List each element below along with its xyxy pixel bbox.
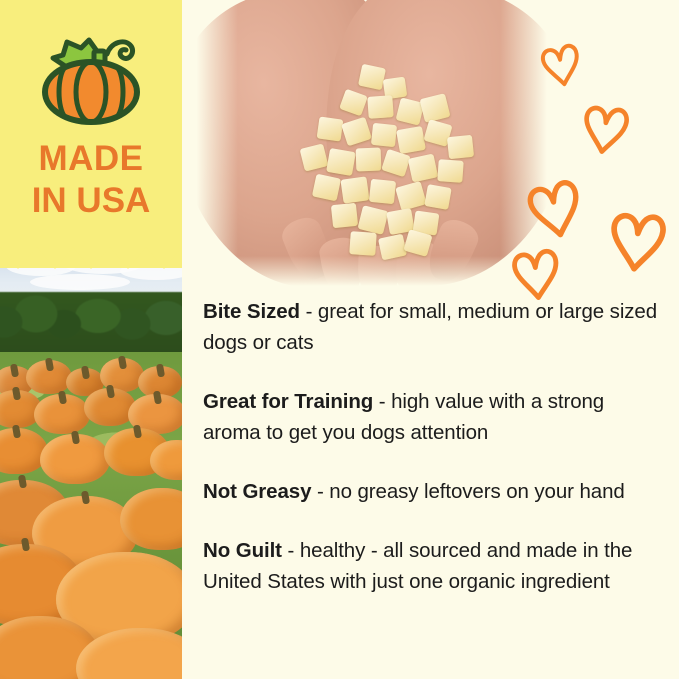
feature-bite-sized: Bite Sized - great for small, medium or … — [203, 296, 659, 358]
cloud — [30, 274, 130, 290]
left-column: MADE IN USA — [0, 0, 182, 679]
treat-cube — [424, 184, 451, 210]
treat-cube — [367, 95, 393, 119]
column-gutter — [182, 0, 192, 679]
photo-fade-bottom — [192, 256, 552, 290]
treat-cube — [396, 126, 426, 154]
treat-cube — [326, 148, 356, 176]
pumpkin-icon — [0, 24, 182, 131]
made-in-usa-badge: MADE IN USA — [0, 0, 182, 268]
treat-cube — [331, 203, 358, 228]
heart-2-icon — [575, 99, 636, 160]
feature-not-greasy-description: - no greasy leftovers on your hand — [311, 480, 624, 503]
heart-1-icon — [534, 38, 587, 91]
treat-cube — [369, 179, 396, 204]
product-feature-infographic: MADE IN USA — [0, 0, 679, 679]
feature-great-for-training-title: Great for Training — [203, 390, 373, 413]
treat-cube — [312, 174, 341, 202]
feature-no-guilt-title: No Guilt — [203, 539, 282, 562]
pumpkin — [40, 434, 110, 484]
feature-list: Bite Sized - great for small, medium or … — [203, 296, 659, 597]
treat-cube — [371, 123, 397, 147]
treat-cube — [349, 231, 377, 256]
hands-holding-treats-photo — [192, 0, 552, 290]
heart-4-icon — [601, 205, 674, 278]
feature-great-for-training: Great for Training - high value with a s… — [203, 386, 659, 448]
treat-cube — [447, 135, 474, 159]
zigzag-divider — [0, 243, 182, 269]
badge-line-1: MADE — [0, 138, 182, 180]
photo-fade-left — [192, 0, 238, 290]
badge-line-2: IN USA — [0, 180, 182, 222]
treat-cube — [358, 64, 386, 91]
pumpkin-patch-photo — [0, 248, 182, 679]
feature-bite-sized-title: Bite Sized — [203, 300, 300, 323]
feature-not-greasy: Not Greasy - no greasy leftovers on your… — [203, 476, 659, 507]
pumpkin — [34, 394, 90, 434]
treat-cube — [356, 148, 382, 172]
feature-not-greasy-title: Not Greasy — [203, 480, 311, 503]
feature-no-guilt: No Guilt - healthy - all sourced and mad… — [203, 535, 659, 597]
pumpkin — [26, 360, 72, 394]
treat-cube — [340, 176, 369, 203]
heart-3-icon — [518, 172, 592, 246]
decorative-hearts-group — [500, 18, 679, 293]
treat-cube — [437, 159, 463, 183]
treat-cube — [317, 116, 344, 141]
made-in-usa-text: MADE IN USA — [0, 138, 182, 222]
